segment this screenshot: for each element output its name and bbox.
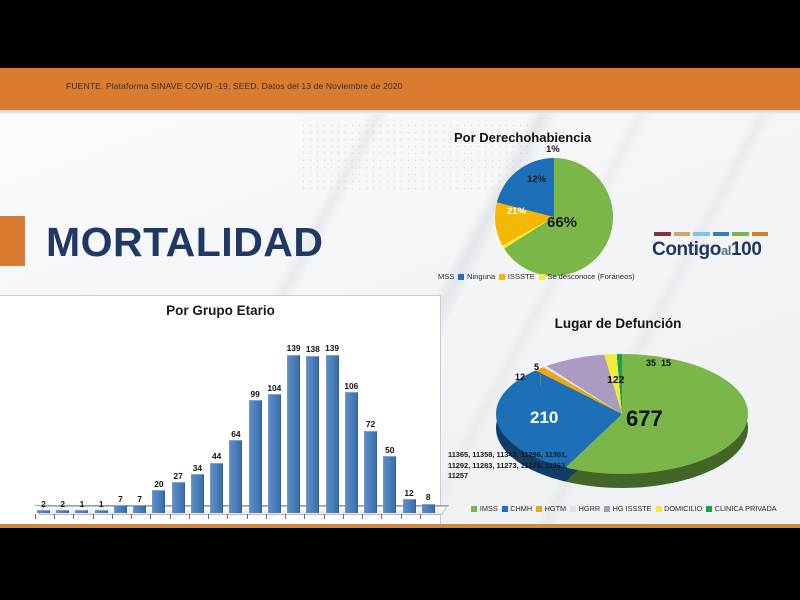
pie2-annotation: 11365, 11358, 11348, 11296, 11301, 11292… [448, 450, 578, 482]
source-band: FUENTE. Plataforma SINAVE COVID -19, SEE… [0, 68, 800, 110]
bar-rect [229, 440, 242, 513]
bar-value-label: 139 [287, 343, 301, 353]
pie-chart-lugar-defuncion: Lugar de Defunción 6772101221253515 1136… [448, 316, 800, 528]
table-row: 44 [210, 451, 223, 513]
table-row: 27 [172, 471, 185, 513]
pie2-slice-label: 677 [626, 406, 663, 432]
legend-swatch [471, 506, 477, 512]
bar-value-label: 64 [231, 429, 240, 439]
pie2-slice-label: 12 [515, 372, 525, 382]
axis-tick [343, 514, 344, 519]
bar-rect [345, 392, 358, 513]
bar-value-label: 104 [267, 383, 281, 393]
axis-tick [304, 514, 305, 519]
table-row: 7 [114, 494, 127, 513]
bar-rect [326, 355, 339, 513]
legend-swatch [706, 506, 712, 512]
pie2-slice-label: 210 [530, 408, 558, 428]
table-row: 1 [95, 499, 108, 514]
bar-chart-plot: 2< a 1a.21 a 415 a 9110 a 14715 a 19720 … [21, 332, 424, 528]
legend-swatch [539, 274, 545, 280]
bar-value-label: 7 [118, 494, 123, 504]
legend-label: Ninguna [467, 272, 495, 281]
table-row: 139 [287, 343, 300, 513]
legend-label: CHMH [510, 504, 532, 513]
bar-value-label: 106 [344, 381, 358, 391]
pie1-legend: MSSNingunaISSSTESe desconoce (Foráneos) [438, 272, 800, 281]
bar-rect [383, 456, 396, 513]
pie2-legend-item[interactable]: CLINICA PRIVADA [706, 504, 776, 513]
bar-rect [422, 504, 435, 513]
bar-value-label: 72 [366, 419, 375, 429]
bar-rect [56, 510, 69, 513]
legend-label: Se desconoce (Foráneos) [547, 272, 634, 281]
pie2-legend-item[interactable]: DOMICILIO [656, 504, 703, 513]
axis-tick [227, 514, 228, 519]
pie1-slice-label: 12% [527, 174, 546, 185]
table-row: 72 [364, 419, 377, 513]
table-row: 2 [56, 499, 69, 514]
legend-swatch [570, 506, 576, 512]
table-row: 12 [403, 488, 416, 513]
slide-stage: FUENTE. Plataforma SINAVE COVID -19, SEE… [0, 0, 800, 600]
pie2-legend-item[interactable]: HGTM [536, 504, 566, 513]
legend-label: HGRR [579, 504, 601, 513]
axis-tick [112, 514, 113, 519]
bar-value-label: 1 [80, 499, 85, 509]
legend-label: HG ISSSTE [613, 504, 652, 513]
axis-tick [362, 514, 363, 519]
table-row: 64 [229, 429, 242, 513]
table-row: 2 [37, 499, 50, 514]
axis-tick [54, 514, 55, 519]
bar-rect [249, 400, 262, 513]
letterbox-top [0, 0, 800, 68]
pie1-legend-item[interactable]: ISSSTE [499, 272, 535, 281]
table-row: 8 [422, 492, 435, 513]
pie2-legend-item[interactable]: HGRR [570, 504, 600, 513]
axis-tick [324, 514, 325, 519]
bar-rect [114, 505, 127, 513]
pie1-slice-label: 66% [547, 214, 577, 231]
bar-value-label: 138 [306, 344, 320, 354]
page-title: MORTALIDAD [46, 218, 324, 266]
pie1-slice-label: 21% [507, 206, 526, 217]
pie1-title: Por Derechohabiencia [454, 130, 591, 145]
bar-rect [306, 356, 319, 513]
axis-tick [73, 514, 74, 519]
pie2-legend-item[interactable]: IMSS [471, 504, 497, 513]
bar-value-label: 12 [404, 488, 413, 498]
legend-label: IMSS [480, 504, 498, 513]
bar-value-label: 2 [41, 499, 46, 509]
bar-value-label: 34 [193, 463, 202, 473]
bar-rect [364, 431, 377, 513]
presentation-slide: FUENTE. Plataforma SINAVE COVID -19, SEE… [0, 68, 800, 528]
bar-rect [95, 510, 108, 513]
bar-value-label: 1 [99, 499, 104, 509]
source-text: FUENTE. Plataforma SINAVE COVID -19, SEE… [66, 81, 403, 91]
bar-value-label: 50 [385, 445, 394, 455]
axis-tick [285, 514, 286, 519]
axis-tick [401, 514, 402, 519]
bar-rect [133, 505, 146, 513]
axis-tick [150, 514, 151, 519]
bar-value-label: 139 [325, 343, 339, 353]
pie2-title: Lugar de Defunción [448, 316, 788, 331]
pie2-slice-label: 122 [607, 374, 625, 386]
bar-value-label: 8 [426, 492, 431, 502]
pie1-legend-item[interactable]: Ninguna [458, 272, 495, 281]
pie2-slice-label: 35 [646, 358, 656, 368]
table-row: 20 [152, 479, 165, 513]
legend-label: MSS [438, 272, 454, 281]
table-row: 139 [326, 343, 339, 513]
axis-tick [189, 514, 190, 519]
bar-rect [191, 474, 204, 513]
bar-rect [210, 463, 223, 513]
legend-label: ISSSTE [508, 272, 535, 281]
table-row: 34 [191, 463, 204, 513]
axis-tick [35, 514, 36, 519]
table-row: 7 [133, 494, 146, 513]
pie1-legend-item[interactable]: Se desconoce (Foráneos) [539, 272, 635, 281]
pie2-legend-item[interactable]: CHMH [502, 504, 532, 513]
pie1-slice-label-outside: 1% [546, 144, 560, 155]
bar-rect [37, 510, 50, 513]
axis-tick [131, 514, 132, 519]
table-row: 138 [306, 344, 319, 513]
legend-label: DOMICILIO [664, 504, 702, 513]
pie1-graphic: 66%21%12% [495, 158, 613, 276]
bar-value-label: 7 [137, 494, 142, 504]
legend-swatch [499, 274, 505, 280]
axis-tick [208, 514, 209, 519]
bar-rect [172, 482, 185, 513]
pie2-legend-item[interactable]: HG ISSSTE [604, 504, 651, 513]
title-accent-bar [0, 216, 25, 266]
pie2-legend: IMSSCHMHHGTMHGRRHG ISSSTEDOMICILIOCLINIC… [448, 504, 800, 513]
axis-tick [381, 514, 382, 519]
table-row: 104 [268, 383, 281, 513]
bar-rect [403, 499, 416, 513]
letterbox-bottom [0, 528, 800, 600]
table-row: 99 [249, 389, 262, 513]
axis-tick [420, 514, 421, 519]
pie-chart-derechohabiencia: Por Derechohabiencia 66%21%12% MSSNingun… [448, 130, 800, 290]
bar-value-label: 2 [60, 499, 65, 509]
pie1-legend-item[interactable]: MSS [438, 272, 454, 281]
bar-rect [152, 490, 165, 513]
table-row: 106 [345, 381, 358, 513]
axis-tick [93, 514, 94, 519]
legend-swatch [604, 506, 610, 512]
table-row: 50 [383, 445, 396, 514]
legend-label: HGTM [545, 504, 566, 513]
bar-value-label: 20 [154, 479, 163, 489]
axis-tick [266, 514, 267, 519]
bar-rect [287, 355, 300, 513]
bar-value-label: 27 [173, 471, 182, 481]
pie2-slice-label: 15 [661, 358, 671, 368]
legend-swatch [536, 506, 542, 512]
legend-label: CLINICA PRIVADA [715, 504, 777, 513]
bar-rect [75, 510, 88, 513]
axis-tick [170, 514, 171, 519]
bar-chart-panel: Por Grupo Etario 2< a 1a.21 a 415 a 9110… [0, 295, 441, 528]
legend-swatch [458, 274, 464, 280]
table-row: 1 [75, 499, 88, 514]
bar-value-label: 44 [212, 451, 221, 461]
pie2-leader-line [540, 372, 541, 386]
bar-rect [268, 394, 281, 513]
bar-value-label: 99 [250, 389, 259, 399]
legend-swatch [502, 506, 508, 512]
axis-tick [247, 514, 248, 519]
bottom-orange-strip [0, 524, 800, 528]
pie2-slice-label: 5 [534, 362, 539, 372]
bar-chart-title: Por Grupo Etario [0, 303, 442, 318]
legend-swatch [656, 506, 662, 512]
